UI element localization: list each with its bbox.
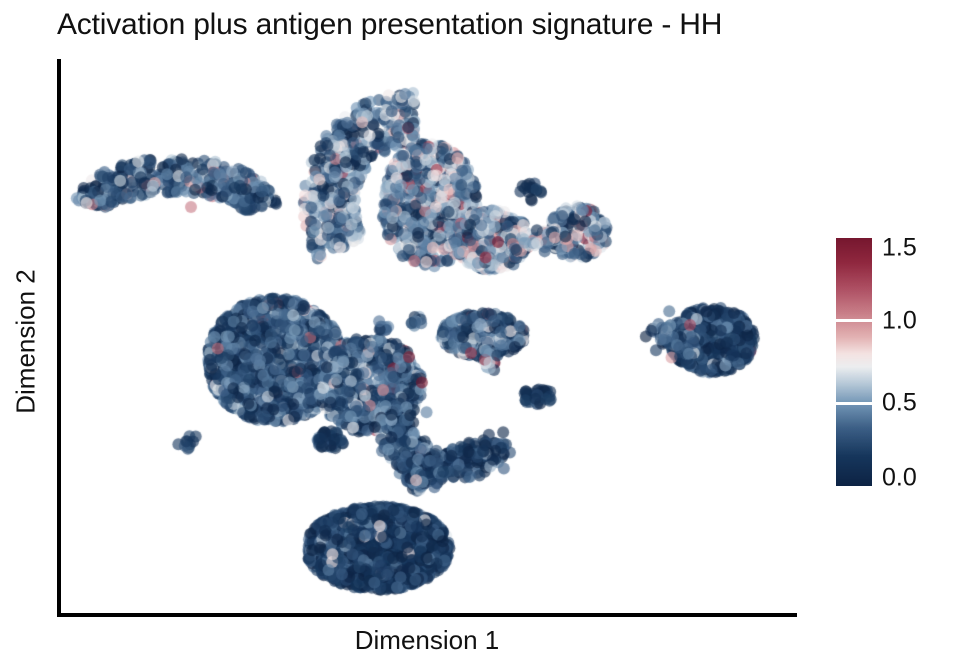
colorbar-tick-label-1-5: 1.5 <box>882 234 917 263</box>
y-axis-label: Dimension 2 <box>11 63 42 621</box>
scatter-plot-canvas <box>0 0 960 672</box>
scatter-plot-figure: Activation plus antigen presentation sig… <box>0 0 960 672</box>
x-axis-label: Dimension 1 <box>57 625 797 656</box>
y-axis-line <box>57 59 61 617</box>
colorbar-gradient <box>836 238 872 486</box>
colorbar: 1.51.00.50.0 <box>836 238 960 486</box>
colorbar-tick-0-5 <box>836 402 872 405</box>
colorbar-tick-1 <box>836 319 872 322</box>
x-axis-line <box>57 613 797 617</box>
colorbar-tick-label-1: 1.0 <box>882 306 917 335</box>
colorbar-tick-label-0: 0.0 <box>882 464 917 493</box>
colorbar-tick-label-0-5: 0.5 <box>882 389 917 418</box>
